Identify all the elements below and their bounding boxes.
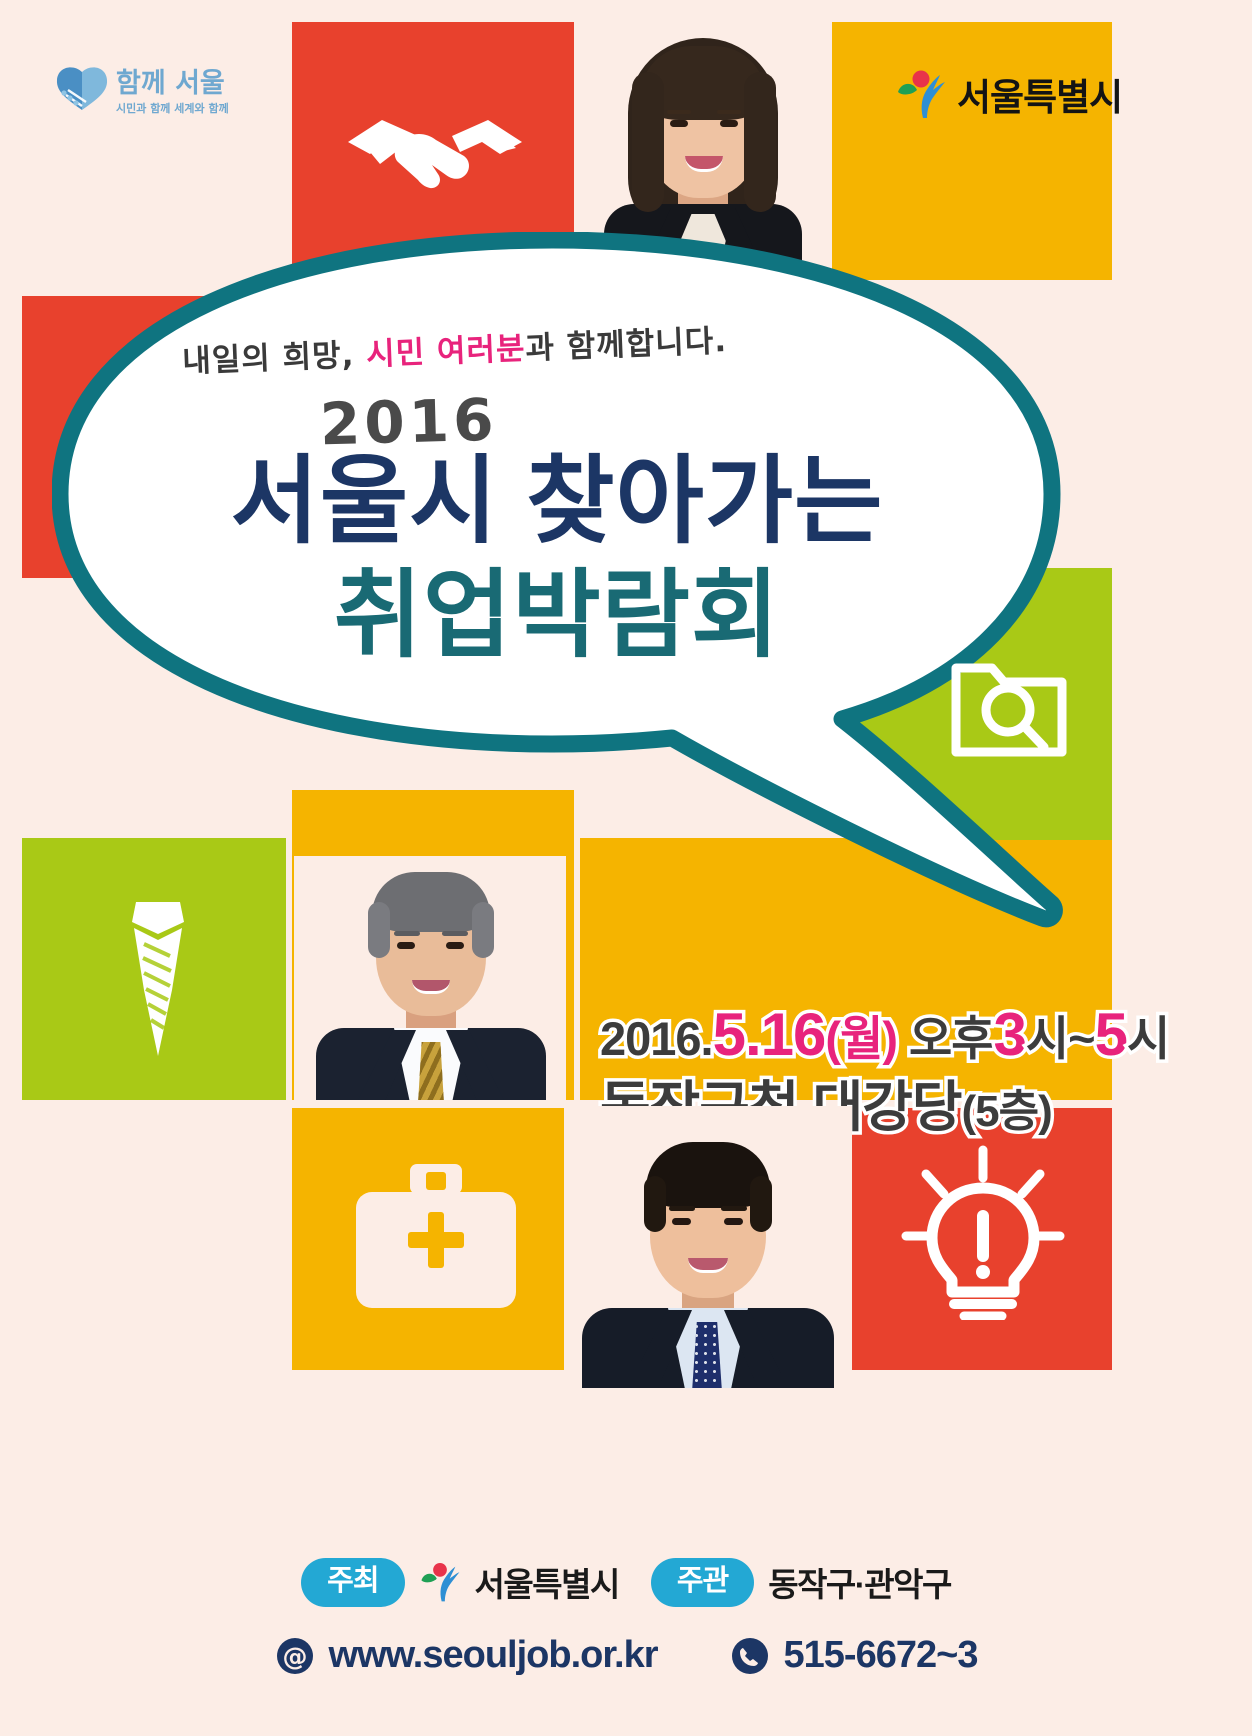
- brow-right: [721, 1206, 747, 1211]
- time-unit-end: 시: [1127, 1012, 1169, 1065]
- tagline-part-2: 과 함께합니다.: [525, 323, 728, 367]
- date-separator: .: [745, 1001, 761, 1068]
- seoul-brand-icon: [895, 66, 947, 122]
- two-hands-heart-icon: [57, 67, 107, 110]
- date-month: 5: [713, 1001, 745, 1068]
- medical-briefcase-icon: [348, 1160, 524, 1316]
- time-label: 오후: [897, 1012, 994, 1065]
- bubble-tagline: 내일의 희망, 시민 여러분과 함께합니다.: [181, 312, 802, 381]
- time-start: 3: [994, 1001, 1026, 1068]
- venue-floor: (5층): [961, 1087, 1051, 1136]
- bubble-content: 내일의 희망, 시민 여러분과 함께합니다. 2016 서울시 찾아가는 취업박…: [52, 232, 1062, 792]
- date-day: 16: [761, 1001, 826, 1068]
- lightbulb-idea-icon: [898, 1144, 1068, 1320]
- young-businessman-photo: [564, 1106, 852, 1388]
- brow-left: [669, 1206, 695, 1211]
- hair-temple-right: [750, 1176, 772, 1232]
- manager-name: 동작구·관악구: [768, 1558, 951, 1606]
- tagline-part-1: 내일의 희망,: [182, 337, 367, 380]
- host-badge: 주최: [301, 1558, 404, 1607]
- poster-footer: 주최 서울특별시 주관 동작구·관악구 @ www.seouljob.or.kr: [0, 1556, 1252, 1677]
- folder-search-icon: [946, 648, 1078, 768]
- website-contact[interactable]: @ www.seouljob.or.kr: [275, 1634, 658, 1677]
- eye-left: [672, 1218, 691, 1225]
- together-seoul-logo: 함께 서울 시민과 함께 세계와 함께: [52, 58, 252, 124]
- time-end: 5: [1095, 1001, 1127, 1068]
- hair-temple-left: [368, 902, 390, 958]
- hair-temple-right: [472, 902, 494, 958]
- eye-right: [720, 120, 738, 127]
- hair-side-right: [744, 72, 776, 212]
- senior-businessman-photo: [294, 856, 566, 1100]
- brow-left: [667, 110, 691, 114]
- organizers-row: 주최 서울특별시 주관 동작구·관악구: [0, 1556, 1252, 1608]
- hair-temple-left: [644, 1176, 666, 1232]
- time-unit-start: 시~: [1026, 1012, 1095, 1065]
- bubble-title-line-2: 취업박람회: [112, 568, 1002, 664]
- tie-stripes: [418, 1042, 444, 1100]
- tagline-highlight: 시민 여러분: [366, 331, 527, 373]
- at-sign-icon: @: [275, 1636, 315, 1676]
- eye-left: [397, 942, 415, 949]
- handshake-icon: [340, 90, 530, 210]
- host-name: 서울특별시: [475, 1558, 619, 1606]
- together-seoul-tagline: 시민과 함께 세계와 함께: [116, 101, 229, 115]
- seoul-city-wordmark-header: 서울특별시: [957, 67, 1122, 121]
- date-weekday: (월): [825, 1012, 897, 1065]
- job-fair-poster: 함께 서울 시민과 함께 세계와 함께 서울특별시: [0, 0, 1252, 1736]
- phone-contact[interactable]: 515-6672~3: [730, 1634, 978, 1677]
- eye-right: [446, 942, 464, 949]
- svg-text:@: @: [282, 1642, 307, 1671]
- manager-badge: 주관: [651, 1558, 754, 1607]
- bubble-title-line-1: 서울시 찾아가는: [112, 454, 1002, 550]
- hair-side-left: [632, 72, 664, 212]
- event-datetime: 2016.5.16(월) 오후3시~5시: [600, 1000, 1120, 1071]
- contact-row: @ www.seouljob.or.kr 515-6672~3: [0, 1634, 1252, 1677]
- together-seoul-wordmark: 함께 서울: [116, 68, 225, 99]
- date-year: 2016.: [600, 1012, 713, 1065]
- phone-number[interactable]: 515-6672~3: [784, 1634, 978, 1677]
- necktie-icon: [110, 900, 206, 1058]
- eye-right: [724, 1218, 743, 1225]
- brow-right: [442, 931, 468, 936]
- eye-left: [670, 120, 688, 127]
- brow-right: [717, 110, 741, 114]
- website-url[interactable]: www.seouljob.or.kr: [329, 1634, 658, 1677]
- seoul-city-logo-header: 서울특별시: [895, 66, 1122, 122]
- phone-icon: [730, 1636, 770, 1676]
- tie-dots: [692, 1322, 722, 1388]
- seoul-brand-icon: [419, 1559, 461, 1605]
- brow-left: [394, 931, 420, 936]
- speech-bubble: 내일의 희망, 시민 여러분과 함께합니다. 2016 서울시 찾아가는 취업박…: [52, 232, 1112, 932]
